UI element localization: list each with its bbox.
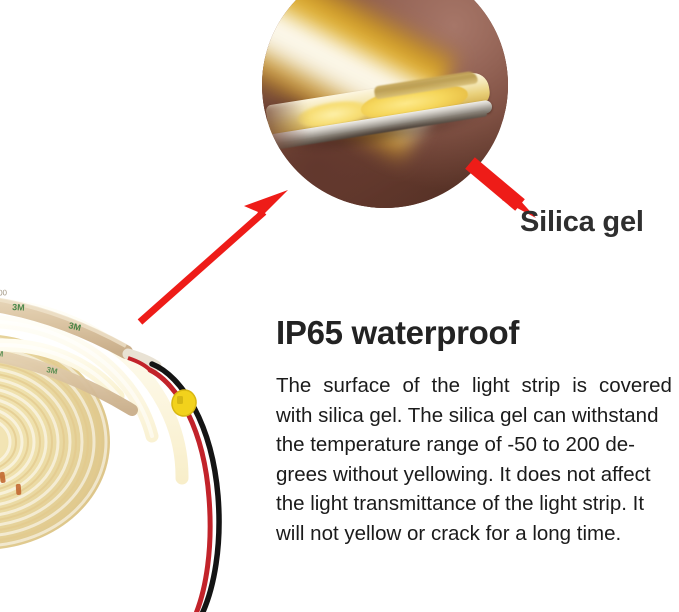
description-line-4: grees without yellowing. It does not aff… (276, 460, 672, 490)
silica-gel-label: Silica gel (520, 206, 644, 239)
description-line-6: will not yellow or crack for a long time… (276, 519, 672, 549)
strip-lead-wires (128, 354, 219, 612)
product-feature-graphic: 3M 3M 3M 3S100 3S100 3M 3M (0, 0, 679, 612)
description-paragraph: The surface of the light strip is covere… (276, 371, 672, 548)
description-line-2: with silica gel. The silica gel can with… (276, 401, 672, 431)
description-line-5: the light transmittance of the light str… (276, 489, 672, 519)
macro-inset-circle (262, 0, 508, 208)
led-strip-roll-illustration: 3M 3M 3M 3S100 3S100 3M 3M (0, 246, 296, 612)
strip-depth-fade (262, 98, 312, 157)
description-line-1: The surface of the light strip is covere… (276, 371, 672, 401)
svg-text:3M: 3M (12, 302, 25, 313)
description-line-3: the temperature range of -50 to 200 de- (276, 430, 672, 460)
cob-led-strip-roll: 3M 3M 3M 3S100 3S100 3M 3M (0, 246, 296, 612)
svg-text:3S100: 3S100 (0, 288, 8, 298)
page-title: IP65 waterproof (276, 314, 519, 352)
